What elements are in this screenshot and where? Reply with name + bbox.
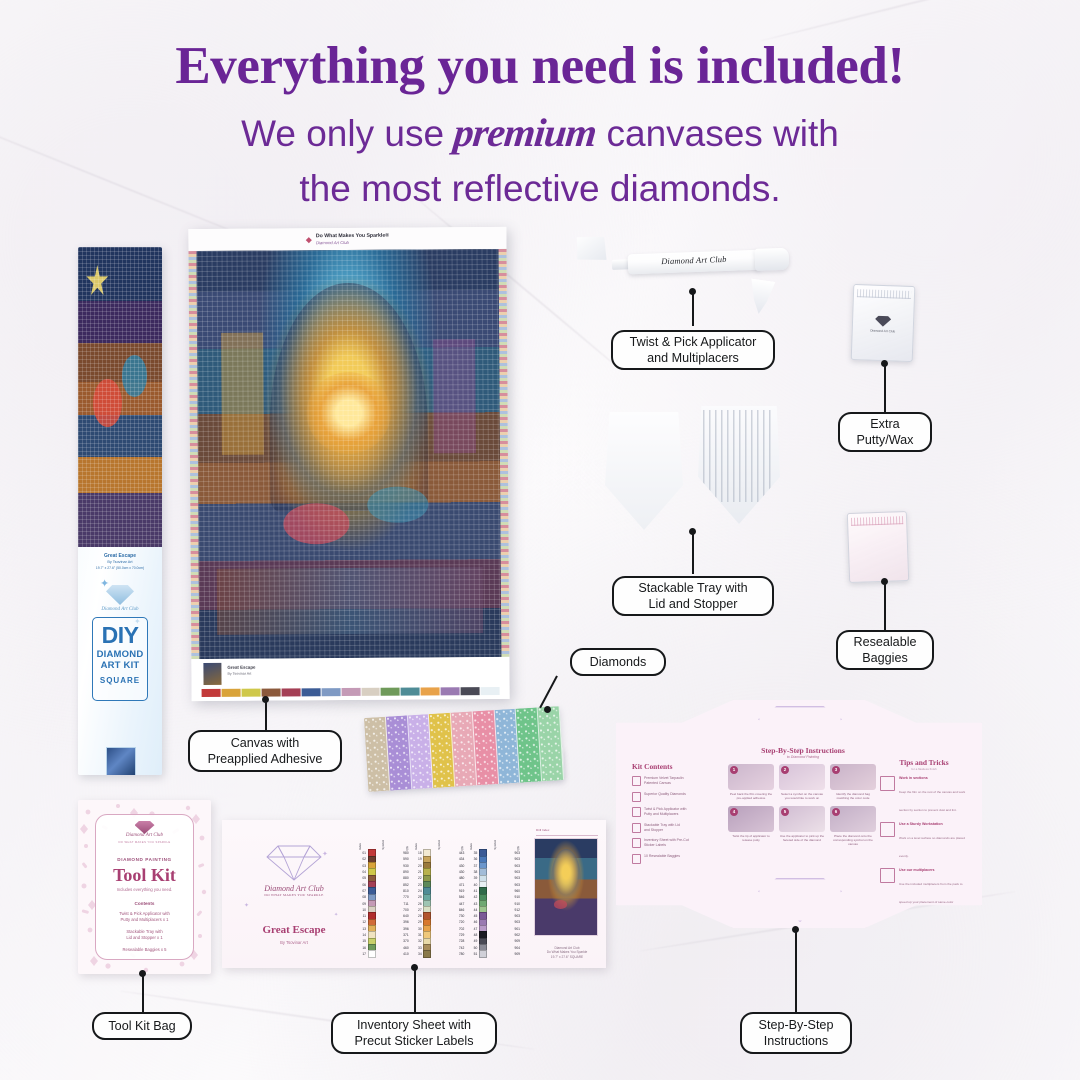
kit-product-artist: By Tsovinar Art <box>78 560 162 564</box>
inventory-index: 41 <box>469 889 477 893</box>
inventory-qty: 903 <box>488 876 520 880</box>
tips-heading: Tips and Tricks <box>880 758 968 767</box>
tool-kit-bag: Diamond Art Club DO WHAT MAKES YOU SPARK… <box>78 800 211 974</box>
step-number: 4 <box>730 808 738 816</box>
inventory-index: 10 <box>358 908 366 912</box>
inventory-column: IndexSymbolQty01980025900393004890058800… <box>358 828 409 960</box>
tip-title: Work in sections <box>899 776 968 780</box>
callout-baggies[interactable]: Resealable Baggies <box>836 630 934 670</box>
instruction-step: 5Use the applicator to pick up the facet… <box>779 806 825 847</box>
tips-subheading: for a flawless finish <box>880 767 968 771</box>
tip-text: Keep the film on the rest of the canvas … <box>899 790 965 812</box>
kit-contents-item: Twist & Pick Applicator with Putty and M… <box>632 807 718 817</box>
kit-thumbnail <box>106 747 136 775</box>
inventory-branding: Diamond Art Club DO WHAT MAKES YOU SPARK… <box>230 828 358 960</box>
kit-contents-heading: Kit Contents <box>632 762 718 771</box>
step-number: 2 <box>781 766 789 774</box>
inventory-index: 02 <box>358 857 366 861</box>
inventory-index: 38 <box>469 870 477 874</box>
kit-contents-list: Premium Velvet Tarpaulin Patented Canvas… <box>632 776 718 864</box>
callout-steps[interactable]: Step-By-Step Instructions <box>740 1012 852 1054</box>
inventory-brand-sub: DO WHAT MAKES YOU SPARKLE <box>230 893 358 897</box>
diamond-baggie-cell <box>538 706 564 781</box>
tool-kit-title: Tool Kit <box>96 865 193 886</box>
inventory-qty: 410 <box>377 952 409 956</box>
tray-ribs <box>703 410 775 502</box>
inventory-column-headers: IndexSymbolQty <box>358 828 409 850</box>
tip-body: Use our multiplacersUse the included mul… <box>899 868 968 926</box>
callout-leader <box>692 532 694 574</box>
tip-body: Use a Sturdy WorkstationWork on a level … <box>899 822 968 862</box>
kit-contents-text: 10 Resealable Baggies <box>644 854 680 859</box>
canvas-tagline-text: Do What Makes You Sparkle® <box>316 233 389 240</box>
callout-applicator[interactable]: Twist & Pick Applicator and Multiplacers <box>611 330 775 370</box>
inventory-column-headers: IndexSymbolQty <box>414 828 465 850</box>
inventory-index: 06 <box>358 883 366 887</box>
inventory-index: 28 <box>414 914 422 918</box>
inventory-qty: 846 <box>433 908 465 912</box>
tip-icon <box>880 868 895 883</box>
resealable-baggie <box>847 511 909 583</box>
inventory-index: 36 <box>469 857 477 861</box>
inventory-qty: 700 <box>377 908 409 912</box>
tip-text: Use the included multiplacers from the p… <box>899 882 962 922</box>
tip-body: Work in sectionsKeep the film on the res… <box>899 776 968 816</box>
inventory-column-header: Index <box>358 843 362 850</box>
inventory-index: 19 <box>414 857 422 861</box>
bag-zipper <box>851 516 903 526</box>
inventory-color-swatch <box>423 950 431 957</box>
kit-diamond-icon <box>106 585 134 605</box>
inventory-index: 40 <box>469 883 477 887</box>
tool-kit-brand: Diamond Art Club <box>96 833 193 838</box>
multiplacer-funnel <box>743 278 779 316</box>
step-by-step-instructions-sheet: Kit Contents Premium Velvet Tarpaulin Pa… <box>616 700 982 928</box>
inventory-index: 31 <box>414 933 422 937</box>
canvas-brand-script: Diamond Art Club <box>316 239 389 245</box>
tool-kit-item: Stackable Tray with Lid and Stopper x 1 <box>96 929 193 942</box>
callout-leader <box>414 968 416 1012</box>
callout-canvas[interactable]: Canvas with Preapplied Adhesive <box>188 730 342 772</box>
inventory-index: 34 <box>414 952 422 956</box>
tip-title: Use a Sturdy Workstation <box>899 822 968 826</box>
subtitle-line2: the most reflective diamonds. <box>299 168 780 209</box>
step-caption: Peel back the film covering the pre-appl… <box>728 792 774 801</box>
subtitle-script-word: premium <box>451 104 599 162</box>
step-caption: Select a symbol on the canvas you would … <box>779 792 825 801</box>
extra-putty-wax-bag: Diamond Art Club <box>851 284 916 362</box>
inventory-qty: 903 <box>488 851 520 855</box>
kit-contents-text: Stackable Tray with Lid and Stopper <box>644 823 680 833</box>
kit-contents-text: Twist & Pick Applicator with Putty and M… <box>644 807 686 817</box>
steps-heading: Step-By-Step Instructions <box>728 746 878 755</box>
inventory-qty: 903 <box>488 914 520 918</box>
step-photo: 3 <box>830 764 876 790</box>
tip-icon <box>880 776 895 791</box>
inventory-artist: By Tsovinar Art <box>230 940 358 945</box>
inventory-index: 05 <box>358 876 366 880</box>
kit-contents-text: Superior Quality Diamonds <box>644 792 686 797</box>
inventory-qty: 852 <box>377 883 409 887</box>
inventory-brand-text: Diamond Art Club <box>264 884 323 893</box>
inventory-index: 09 <box>358 902 366 906</box>
inventory-column: IndexSymbolQty35903369033790338903399034… <box>469 828 520 960</box>
canvas-footer-sub: By Tsovinar Art <box>227 672 251 676</box>
kit-contents-icon <box>632 854 641 864</box>
inventory-index: 16 <box>358 946 366 950</box>
kit-box-artwork <box>78 247 162 547</box>
inventory-index: 46 <box>469 920 477 924</box>
diamond-painting-canvas: ◆ Do What Makes You Sparkle® Diamond Art… <box>188 227 509 701</box>
inventory-qty: 434 <box>433 857 465 861</box>
callout-leader-dot <box>689 288 696 295</box>
inventory-index: 04 <box>358 870 366 874</box>
inventory-qty: 590 <box>377 857 409 861</box>
inventory-qty: 720 <box>433 920 465 924</box>
page-subtitle: We only use premium canvases with the mo… <box>0 104 1080 216</box>
step-photo: 6 <box>830 806 876 832</box>
inventory-index: 49 <box>469 939 477 943</box>
inventory-column-header: Symbol <box>437 840 441 850</box>
inventory-column-header: Symbol <box>493 840 497 850</box>
inventory-index: 51 <box>469 952 477 956</box>
inventory-index: 11 <box>358 914 366 918</box>
tips-section: Tips and Tricks for a flawless finish Wo… <box>880 758 968 978</box>
inventory-qty: 890 <box>377 870 409 874</box>
kit-contents-icon <box>632 776 641 786</box>
callout-leader-dot <box>262 696 269 703</box>
step-number: 3 <box>832 766 840 774</box>
step-photo: 2 <box>779 764 825 790</box>
bag-brand: Diamond Art Club <box>853 328 913 334</box>
inventory-qty: 901 <box>488 927 520 931</box>
callout-leader <box>692 292 694 326</box>
stackable-tray-base <box>698 406 780 524</box>
subtitle-part1: We only use <box>241 113 444 154</box>
callout-putty[interactable]: Extra Putty/Wax <box>838 412 932 452</box>
inventory-index: 48 <box>469 933 477 937</box>
inventory-index: 27 <box>414 908 422 912</box>
inventory-qty: 730 <box>433 914 465 918</box>
inventory-index: 26 <box>414 902 422 906</box>
inventory-index: 44 <box>469 908 477 912</box>
inventory-index: 23 <box>414 883 422 887</box>
inventory-qty: 902 <box>488 933 520 937</box>
callout-leader <box>884 364 886 412</box>
inventory-qty: 447 <box>433 902 465 906</box>
inventory-column-header: Qty <box>405 846 409 851</box>
inventory-index: 07 <box>358 889 366 893</box>
kit-contents-section: Kit Contents Premium Velvet Tarpaulin Pa… <box>632 762 718 870</box>
tip-title: Multiplacers <box>899 932 968 936</box>
inventory-index: 25 <box>414 895 422 899</box>
inventory-qty: 960 <box>488 889 520 893</box>
inventory-column: IndexSymbolQty18443194342043021430224802… <box>414 828 465 960</box>
inventory-index: 50 <box>469 946 477 950</box>
steps-grid: 1Peel back the film covering the pre-app… <box>728 764 878 847</box>
inventory-color-swatch <box>368 950 376 957</box>
inventory-thumb-caption: Diamond Art Club Do What Makes You Spark… <box>536 946 598 960</box>
inventory-qty: 742 <box>433 946 465 950</box>
callout-leader <box>142 974 144 1012</box>
inventory-index: 30 <box>414 927 422 931</box>
inventory-index: 01 <box>358 851 366 855</box>
inventory-qty: 919 <box>433 889 465 893</box>
inventory-qty: 702 <box>433 927 465 931</box>
inventory-column-headers: IndexSymbolQty <box>469 828 520 850</box>
inventory-qty: 930 <box>377 864 409 868</box>
diamond-baggie-strip <box>364 706 564 792</box>
diamond-svg <box>265 844 323 882</box>
diy-kit-box: Great Escape By Tsovinar Art 19.7" x 27.… <box>78 247 162 775</box>
callout-leader-dot <box>139 970 146 977</box>
instruction-step: 2Select a symbol on the canvas you would… <box>779 764 825 801</box>
inventory-index: 14 <box>358 933 366 937</box>
diamond-outline-decor-bottom <box>758 878 842 922</box>
inventory-qty: 910 <box>488 902 520 906</box>
callout-tray[interactable]: Stackable Tray with Lid and Stopper <box>612 576 774 616</box>
callout-leader-dot <box>544 706 551 713</box>
sparkle-icon: ✦ <box>244 902 249 909</box>
sparkle-icon: ✦ <box>334 912 338 918</box>
inventory-index: 20 <box>414 864 422 868</box>
inventory-sheet: Diamond Art Club DO WHAT MAKES YOU SPARK… <box>222 820 606 968</box>
twist-pick-applicator: Diamond Art Club <box>600 249 791 278</box>
tool-kit-subtitle: Includes everything you need. <box>96 887 193 892</box>
inventory-qty: 903 <box>488 870 520 874</box>
canvas-header: ◆ Do What Makes You Sparkle® Diamond Art… <box>188 227 506 251</box>
inventory-qty: 728 <box>433 939 465 943</box>
diamond-outline-decor-top <box>758 706 842 750</box>
step-caption: Twist the tip of applicator to release p… <box>728 834 774 843</box>
kit-box-label: Great Escape By Tsovinar Art 19.7" x 27.… <box>78 547 162 775</box>
inventory-thumbnail <box>534 838 598 936</box>
inventory-index: 22 <box>414 876 422 880</box>
tool-kit-panel: Diamond Art Club DO WHAT MAKES YOU SPARK… <box>95 814 194 960</box>
instruction-step: 4Twist the tip of applicator to release … <box>728 806 774 847</box>
inventory-qty: 471 <box>433 883 465 887</box>
kit-diy-text: DIY <box>93 624 147 647</box>
callout-toolkit[interactable]: Tool Kit Bag <box>92 1012 192 1040</box>
inventory-index: 39 <box>469 876 477 880</box>
kit-contents-icon <box>632 807 641 817</box>
tool-kit-brand-sub: DO WHAT MAKES YOU SPARKLE <box>96 841 193 844</box>
kit-diy-badge: DIY DIAMOND ART KIT SQUARE <box>92 617 148 701</box>
tip-text: Symbols appear similar? Check the legend… <box>899 946 965 968</box>
inventory-qty: 903 <box>488 920 520 924</box>
inventory-qty: 640 <box>377 914 409 918</box>
canvas-footer: Great Escape By Tsovinar Art <box>191 657 509 701</box>
kit-brand: Diamond Art Club <box>78 607 162 612</box>
tip-item: MultiplacersSymbols appear similar? Chec… <box>880 932 968 972</box>
kit-contents-text: Inventory Sheet with Pre-Cut Sticker Lab… <box>644 838 689 848</box>
inventory-row: 34780 <box>414 951 465 957</box>
stackable-tray-lid <box>605 412 683 530</box>
inventory-qty: 904 <box>488 946 520 950</box>
inventory-index: 21 <box>414 870 422 874</box>
applicator-cap <box>755 248 790 271</box>
tip-item: Use our multiplacersUse the included mul… <box>880 868 968 926</box>
kit-contents-text: Premium Velvet Tarpaulin Patented Canvas <box>644 776 684 786</box>
tip-icon <box>880 932 895 947</box>
inventory-index: 33 <box>414 946 422 950</box>
tool-kit-eyebrow: DIAMOND PAINTING <box>96 857 193 862</box>
steps-subheading: to Diamond Painting <box>728 755 878 759</box>
tip-text: Work on a level surface so diamonds are … <box>899 836 965 858</box>
page-title: Everything you need is included! <box>0 36 1080 96</box>
tip-body: MultiplacersSymbols appear similar? Chec… <box>899 932 968 972</box>
callout-leader <box>884 582 886 630</box>
inventory-index: 18 <box>414 851 422 855</box>
inventory-qty: 480 <box>433 876 465 880</box>
canvas-artwork <box>197 249 502 659</box>
instruction-step: 3Identify the diamond bag matching the c… <box>830 764 876 801</box>
heart-diamond-icon: ◆ <box>306 235 312 244</box>
inventory-qty: 903 <box>488 857 520 861</box>
kit-contents-icon <box>632 823 641 833</box>
inventory-index: 47 <box>469 927 477 931</box>
step-photo: 4 <box>728 806 774 832</box>
kit-contents-item: Stackable Tray with Lid and Stopper <box>632 823 718 833</box>
inventory-qty: 912 <box>488 908 520 912</box>
inventory-column-header: Qty <box>516 846 520 851</box>
inventory-qty: 370 <box>377 939 409 943</box>
inventory-index: 03 <box>358 864 366 868</box>
inventory-color-swatch <box>479 950 487 957</box>
tool-kit-item: Twist & Pick Applicator with Putty and M… <box>96 911 193 924</box>
inventory-qty: 910 <box>488 895 520 899</box>
inventory-row: 17410 <box>358 951 409 957</box>
inventory-index: 17 <box>358 952 366 956</box>
instruction-step: 1Peel back the film covering the pre-app… <box>728 764 774 801</box>
inventory-index: 37 <box>469 864 477 868</box>
inventory-index: 32 <box>414 939 422 943</box>
inventory-qty: 430 <box>433 864 465 868</box>
inventory-qty: 770 <box>377 895 409 899</box>
inventory-qty: 711 <box>377 902 409 906</box>
kit-contents-item: Superior Quality Diamonds <box>632 792 718 802</box>
tool-kit-item: Resealable Baggies x 5 <box>96 947 193 953</box>
kit-contents-item: Inventory Sheet with Pre-Cut Sticker Lab… <box>632 838 718 848</box>
canvas-tagline: Do What Makes You Sparkle® Diamond Art C… <box>316 233 389 245</box>
kit-contents-item: 10 Resealable Baggies <box>632 854 718 864</box>
inventory-qty: 880 <box>377 876 409 880</box>
step-number: 5 <box>781 808 789 816</box>
inventory-index: 42 <box>469 895 477 899</box>
callout-leader-diagonal <box>539 675 558 708</box>
tip-title: Use our multiplacers <box>899 868 968 872</box>
steps-section: Step-By-Step Instructions to Diamond Pai… <box>728 746 878 847</box>
callout-leader-dot <box>689 528 696 535</box>
inventory-index: 15 <box>358 939 366 943</box>
inventory-column-header: Index <box>414 843 418 850</box>
sparkle-icon: ✦ <box>322 850 328 858</box>
inventory-index: 12 <box>358 920 366 924</box>
callout-leader-dot <box>881 578 888 585</box>
inventory-sheet-label: Drill Index <box>536 828 598 836</box>
kit-contents-icon <box>632 792 641 802</box>
tip-item: Use a Sturdy WorkstationWork on a level … <box>880 822 968 862</box>
kit-kitline-text: DIAMOND ART KIT <box>93 650 147 672</box>
tips-list: Work in sectionsKeep the film on the res… <box>880 776 968 972</box>
step-photo: 1 <box>728 764 774 790</box>
callout-inventory[interactable]: Inventory Sheet with Precut Sticker Labe… <box>331 1012 497 1054</box>
step-photo: 5 <box>779 806 825 832</box>
kit-contents-icon <box>632 838 641 848</box>
inventory-title: Great Escape <box>230 924 358 936</box>
inventory-index: 13 <box>358 927 366 931</box>
inventory-index: 43 <box>469 902 477 906</box>
step-caption: Place the diamond onto the corresponding… <box>830 834 876 847</box>
inventory-qty: 903 <box>488 864 520 868</box>
inventory-qty: 810 <box>377 889 409 893</box>
inventory-qty: 443 <box>433 851 465 855</box>
kit-contents-item: Premium Velvet Tarpaulin Patented Canvas <box>632 776 718 786</box>
kit-product-size: 19.7" x 27.6" (50.0cm x 70.0cm) <box>78 566 162 570</box>
inventory-column-header: Symbol <box>381 840 385 850</box>
step-caption: Use the applicator to pick up the facete… <box>779 834 825 843</box>
inventory-qty: 546 <box>433 895 465 899</box>
inventory-qty: 909 <box>488 952 520 956</box>
step-caption: Identify the diamond bag matching the co… <box>830 792 876 801</box>
inventory-qty: 729 <box>433 933 465 937</box>
callout-leader-dot <box>881 360 888 367</box>
step-number: 1 <box>730 766 738 774</box>
kit-drill-type: SQUARE <box>93 676 147 685</box>
callout-leader <box>795 930 797 1012</box>
inventory-color-table: IndexSymbolQty01980025900393004890058800… <box>358 828 520 960</box>
callout-leader <box>265 700 267 730</box>
inventory-index: 24 <box>414 889 422 893</box>
sparkle-icon: ✦ <box>100 577 109 590</box>
canvas-footer-title: Great Escape <box>227 665 255 670</box>
diamond-outline-icon <box>265 844 323 882</box>
inventory-qty: 430 <box>433 870 465 874</box>
inventory-row: 51909 <box>469 951 520 957</box>
inventory-index: 35 <box>469 851 477 855</box>
inventory-index: 29 <box>414 920 422 924</box>
inventory-qty: 396 <box>377 920 409 924</box>
inventory-index: 08 <box>358 895 366 899</box>
instruction-step: 6Place the diamond onto the correspondin… <box>830 806 876 847</box>
inventory-qty: 780 <box>433 952 465 956</box>
inventory-column-header: Qty <box>460 846 464 851</box>
poster-stage: Everything you need is included! We only… <box>0 0 1080 1080</box>
inventory-qty: 980 <box>377 851 409 855</box>
inventory-qty: 460 <box>377 946 409 950</box>
inventory-brand: Diamond Art Club DO WHAT MAKES YOU SPARK… <box>230 884 358 897</box>
inventory-qty: 396 <box>377 927 409 931</box>
subtitle-part2: canvases with <box>607 113 839 154</box>
callout-diamonds[interactable]: Diamonds <box>570 648 666 676</box>
callout-leader-dot <box>792 926 799 933</box>
bag-zipper <box>857 289 911 299</box>
canvas-color-legend-bottom <box>202 687 500 697</box>
inventory-qty: 903 <box>488 883 520 887</box>
tip-item: Work in sectionsKeep the film on the res… <box>880 776 968 816</box>
diamond-logo-icon <box>875 315 891 327</box>
tool-kit-contents-heading: Contents <box>96 901 193 906</box>
inventory-qty: 909 <box>488 939 520 943</box>
inventory-column-header: Index <box>469 843 473 850</box>
callout-leader-dot <box>411 964 418 971</box>
inventory-qty: 371 <box>377 933 409 937</box>
step-number: 6 <box>832 808 840 816</box>
inventory-index: 45 <box>469 914 477 918</box>
tip-icon <box>880 822 895 837</box>
kit-product-title: Great Escape <box>78 553 162 559</box>
